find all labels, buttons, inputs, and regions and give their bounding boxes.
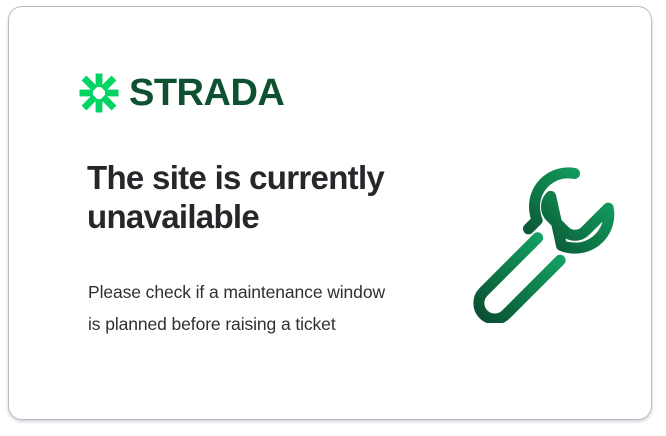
strada-asterisk-icon xyxy=(79,73,119,113)
page-title: The site is currently unavailable xyxy=(87,159,417,236)
brand-wordmark: STRADA xyxy=(129,74,284,112)
page-description: Please check if a maintenance window is … xyxy=(88,277,398,341)
status-card: STRADA The site is currently unavailable… xyxy=(8,6,652,420)
error-page: STRADA The site is currently unavailable… xyxy=(0,0,666,436)
brand-lockup: STRADA xyxy=(79,73,284,113)
